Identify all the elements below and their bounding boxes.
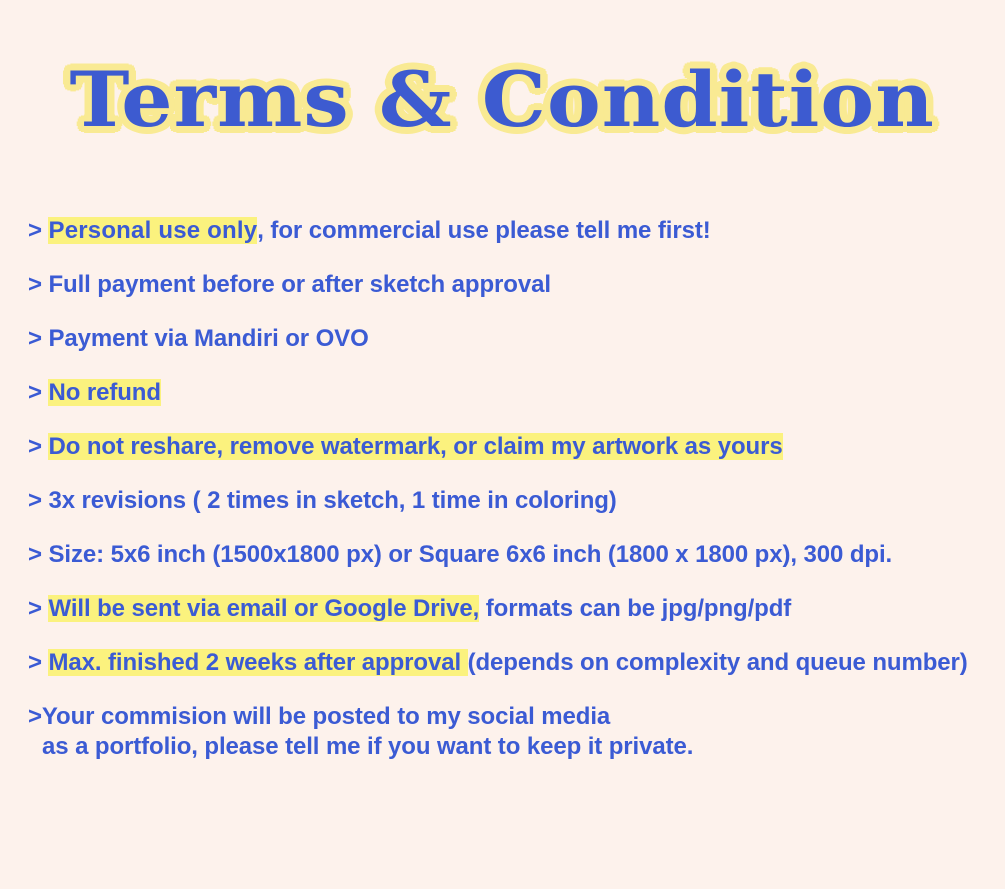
page-title-container: Terms & Condition [0,62,1005,138]
term-segment-highlighted: Do not reshare, remove watermark, or cla… [48,433,782,460]
term-segment: (depends on complexity and queue number) [468,649,968,676]
term-segment-highlighted: Will be sent via email or Google Drive, [48,595,479,622]
bullet-marker: > [28,703,42,730]
bullet-marker: > [28,271,48,298]
term-item: >Your commision will be posted to my soc… [28,704,988,760]
term-segment-highlighted: Personal use only [48,217,257,244]
page-title: Terms & Condition [70,62,935,138]
term-item: > Payment via Mandiri or OVO [28,326,988,380]
bullet-marker: > [28,433,48,460]
term-segment: Your commision will be posted to my soci… [42,703,610,730]
bullet-marker: > [28,595,48,622]
term-segment-continuation: as a portfolio, please tell me if you wa… [28,734,988,759]
bullet-marker: > [28,217,48,244]
term-item: > Do not reshare, remove watermark, or c… [28,434,988,488]
term-segment: 3x revisions ( 2 times in sketch, 1 time… [48,487,616,514]
bullet-marker: > [28,649,48,676]
term-segment-highlighted: No refund [48,379,160,406]
terms-and-conditions-page: Terms & Condition > Personal use only, f… [0,0,1005,889]
term-item: > 3x revisions ( 2 times in sketch, 1 ti… [28,488,988,542]
term-item: > No refund [28,380,988,434]
term-segment: formats can be jpg/png/pdf [479,595,791,622]
bullet-marker: > [28,487,48,514]
term-segment: , for commercial use please tell me firs… [257,217,710,244]
term-item: > Personal use only, for commercial use … [28,218,988,272]
term-item: > Will be sent via email or Google Drive… [28,596,988,650]
term-item: > Max. finished 2 weeks after approval (… [28,650,988,704]
term-segment: Size: 5x6 inch (1500x1800 px) or Square … [48,541,892,568]
bullet-marker: > [28,325,48,352]
term-item: > Full payment before or after sketch ap… [28,272,988,326]
bullet-marker: > [28,541,48,568]
term-segment: Full payment before or after sketch appr… [48,271,550,298]
term-item: > Size: 5x6 inch (1500x1800 px) or Squar… [28,542,988,596]
term-segment-highlighted: Max. finished 2 weeks after approval [48,649,467,676]
terms-list: > Personal use only, for commercial use … [28,218,988,760]
bullet-marker: > [28,379,48,406]
term-segment: Payment via Mandiri or OVO [48,325,368,352]
